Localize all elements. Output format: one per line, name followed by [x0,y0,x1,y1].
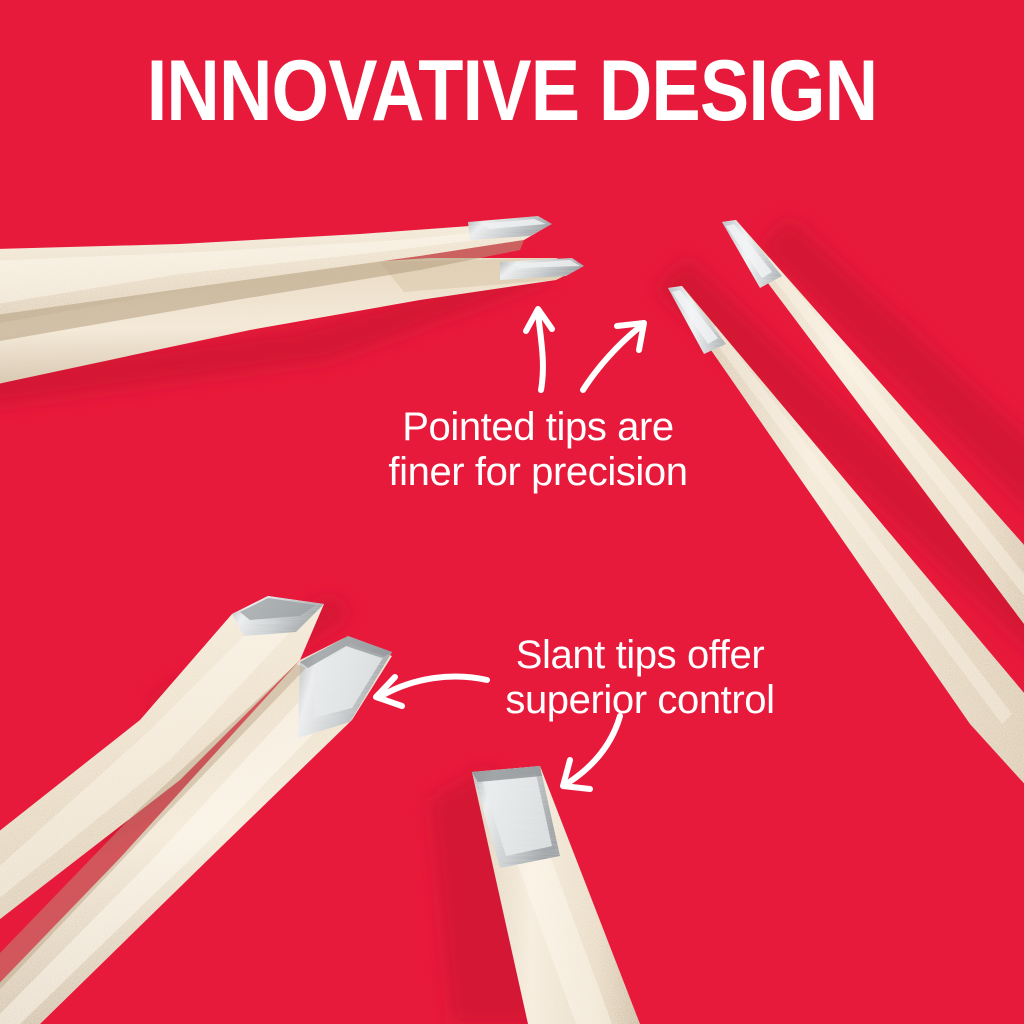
annotation-pointed-tips-line2: finer for precision [388,450,687,495]
annotation-slant-tips: Slant tips offer superior control [505,633,774,723]
page-title: INNOVATIVE DESIGN [72,48,953,134]
product-artwork [0,0,1024,1024]
arrow-down-left-icon [563,716,620,789]
annotation-slant-tips-line2: superior control [505,678,774,723]
promo-image: INNOVATIVE DESIGN Pointed tips are finer… [0,0,1024,1024]
slant-tweezer-single [472,766,640,1024]
pointed-tweezer-large [0,216,584,392]
annotation-pointed-tips: Pointed tips are finer for precision [388,405,687,495]
annotation-slant-tips-line1: Slant tips offer [505,633,774,678]
arrow-up-right-icon [583,323,644,390]
annotation-pointed-tips-line1: Pointed tips are [388,405,687,450]
arrow-left-icon [376,676,487,706]
product-shadows [0,218,1024,1024]
slant-tweezer-pair [0,596,392,1024]
arrow-up-left-icon [526,309,552,390]
annotation-arrows [0,0,1024,1024]
